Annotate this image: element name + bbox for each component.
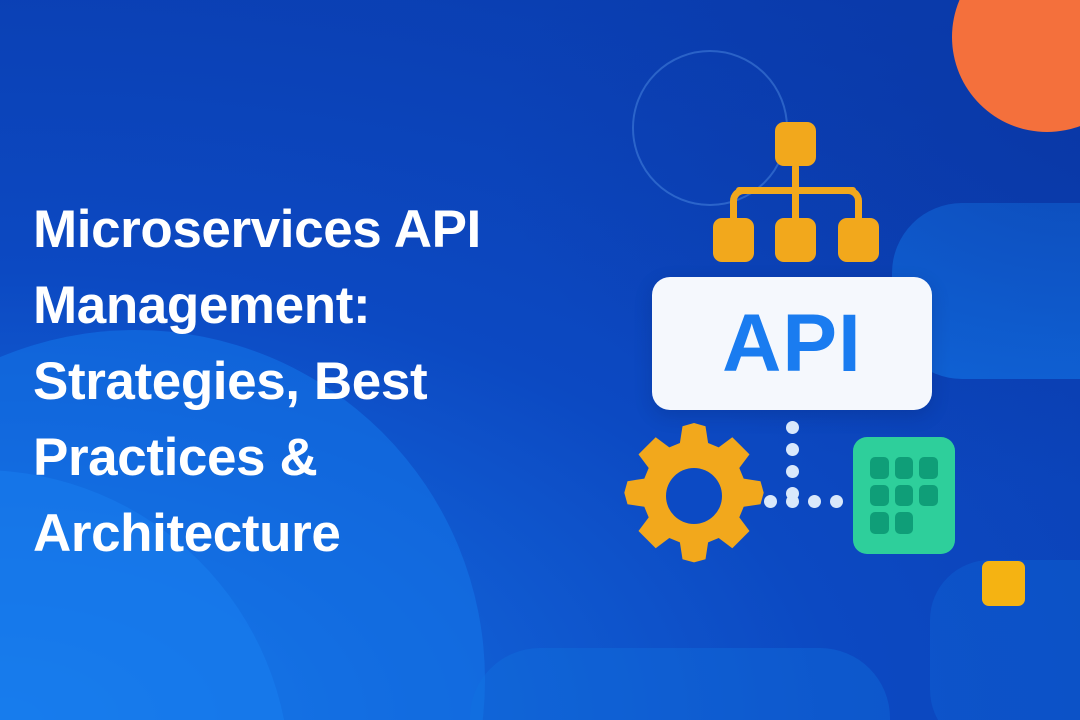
grid-cell [919, 485, 938, 507]
tree-node-parent [775, 122, 816, 166]
connector-dot-v1 [786, 421, 799, 434]
tree-link-elbow-right [838, 187, 862, 221]
grid-cell [870, 512, 889, 534]
tree-node-child-3 [838, 218, 879, 262]
title-line-1: Microservices API [33, 192, 593, 268]
gear-icon [623, 423, 765, 569]
title-line-5: Architecture [33, 496, 593, 572]
tree-node-child-2 [775, 218, 816, 262]
connector-dot-v3 [786, 465, 799, 478]
grid-apps-icon [853, 437, 955, 554]
connector-dot-h3 [808, 495, 821, 508]
connector-dot-v2 [786, 443, 799, 456]
title-line-2: Management: [33, 268, 593, 344]
connector-dot-h2 [786, 495, 799, 508]
grid-cell [895, 512, 914, 534]
api-card-label: API [722, 303, 862, 385]
grid-cell [870, 485, 889, 507]
tree-link-elbow-left [730, 187, 754, 221]
title-line-3: Strategies, Best [33, 344, 593, 420]
grid-cell-empty [919, 512, 938, 534]
title-line-4: Practices & [33, 420, 593, 496]
tree-node-child-1 [713, 218, 754, 262]
api-management-illustration: API [600, 90, 1020, 620]
grid-cell [895, 457, 914, 479]
connector-dot-h4 [830, 495, 843, 508]
connector-dot-h1 [764, 495, 777, 508]
page-title: Microservices API Management: Strategies… [33, 192, 593, 572]
grid-cell [919, 457, 938, 479]
api-card: API [652, 277, 932, 410]
banner-canvas: Microservices API Management: Strategies… [0, 0, 1080, 720]
grid-cell [895, 485, 914, 507]
grid-cell [870, 457, 889, 479]
